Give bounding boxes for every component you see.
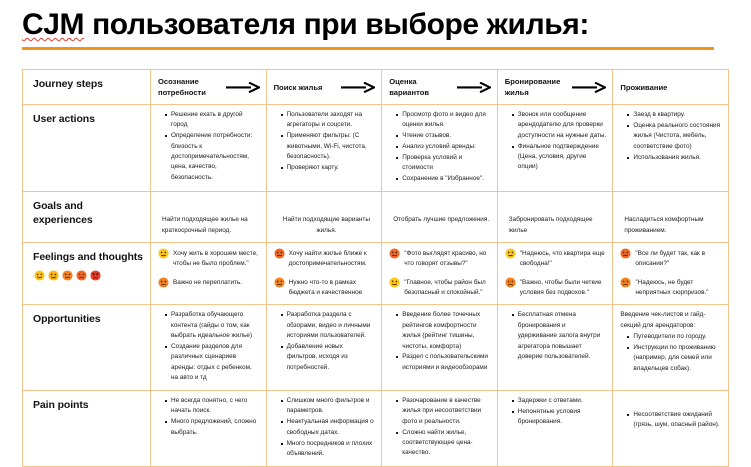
- list-item: Добавление новых фильтров, исходя из пот…: [282, 342, 376, 373]
- list-item: Проверяют карту.: [282, 163, 376, 173]
- quote-row: "Надеюсь, не будет неприятных сюрпризов.…: [620, 277, 722, 299]
- table-row-opportunities: Opportunities Разработка обучающего конт…: [23, 305, 729, 391]
- quote-text: Важно не переплатить.: [173, 277, 242, 288]
- goal-text: Найти подходящие варианты жилья.: [274, 197, 376, 236]
- quote-text: Хочу найти жилье ближе к достопримечател…: [289, 248, 376, 270]
- quote-list: Хочу жить в хорошем месте, чтобы не было…: [158, 248, 260, 288]
- bullet-list: Путеводители по городу. Инструкции по пр…: [620, 332, 722, 374]
- list-item: Применяют фильтры: (С животными, Wi-Fi, …: [282, 131, 376, 162]
- cell-feelings-1: Хочу жить в хорошем месте, чтобы не было…: [151, 242, 267, 305]
- arrow-right-icon: [572, 82, 606, 93]
- table-row-feelings: Feelings and thoughts Хочу жить в хороше…: [23, 242, 729, 305]
- bullet-list: Решение ехать в другой город Определение…: [158, 110, 260, 183]
- quote-list: "Все ли будет так, как в описании?" "Над…: [620, 248, 722, 299]
- list-item: Разочарование в качестве жилья при несоо…: [397, 396, 491, 427]
- title-underline-rule: [22, 47, 714, 50]
- cell-step-2: Поиск жилья: [266, 70, 382, 105]
- list-item: Введение более точечных рейтингов комфор…: [397, 310, 491, 352]
- quote-row: Нужно что-то в рамках бюджета и качестве…: [274, 277, 376, 299]
- arrow-right-icon: [341, 82, 375, 93]
- rowhead-label: Feelings and thoughts: [33, 250, 144, 264]
- bullet-list: Не всегда понятно, с чего начать поиск. …: [158, 396, 260, 438]
- bullet-list: Разработка обучающего контента (гайды о …: [158, 310, 260, 383]
- cell-pain-points-4: Задержки с ответами. Непонятные условия …: [497, 391, 613, 467]
- bullet-list: Разочарование в качестве жилья при несоо…: [389, 396, 491, 459]
- emoji-neutral-icon: [274, 277, 285, 288]
- table-row-goals: Goals and experiences Найти подходящее ж…: [23, 192, 729, 243]
- goal-text: Насладиться комфортным проживанием.: [620, 197, 722, 236]
- cell-pain-points-2: Слишком много фильтров и параметров. Неа…: [266, 391, 382, 467]
- arrow-right-icon: [457, 82, 491, 93]
- list-item: Финальное подтверждение (Цена, условия, …: [513, 142, 607, 173]
- title-rest: пользователя при выборе жилья:: [84, 8, 589, 41]
- step-label: Поиск жилья: [274, 82, 323, 93]
- rowhead-label: User actions: [33, 112, 144, 126]
- cell-opportunities-5: Введение чек-листов и гайд-секций для ар…: [613, 305, 729, 391]
- list-item: Инструкции по проживанию (например, для …: [628, 343, 722, 374]
- emoji-neutral-icon: [620, 248, 631, 259]
- bullet-list: Бесплатная отмена бронирования и удержив…: [505, 310, 607, 362]
- quote-text: Хочу жить в хорошем месте, чтобы не было…: [173, 248, 260, 270]
- cell-pain-points-3: Разочарование в качестве жилья при несоо…: [382, 391, 498, 467]
- bullet-list: Задержки с ответами. Непонятные условия …: [505, 396, 607, 428]
- quote-row: "Фото выглядят красиво, но что говорят о…: [389, 248, 491, 270]
- rowhead-opportunities: Opportunities: [23, 305, 151, 391]
- title-flagged-word: CJM: [22, 8, 84, 41]
- cell-feelings-2: Хочу найти жилье ближе к достопримечател…: [266, 242, 382, 305]
- cell-goals-2: Найти подходящие варианты жилья.: [266, 192, 382, 243]
- emoji-sad-icon: [505, 277, 516, 288]
- rowhead-goals: Goals and experiences: [23, 192, 151, 243]
- quote-text: "Фото выглядят красиво, но что говорят о…: [404, 248, 491, 270]
- quote-text: "Все ли будет так, как в описании?": [635, 248, 722, 270]
- emoji-slight-smile-icon: [505, 248, 516, 259]
- list-item: Решение ехать в другой город: [166, 110, 260, 131]
- rowhead-label: Pain points: [33, 398, 144, 412]
- cell-opportunities-1: Разработка обучающего контента (гайды о …: [151, 305, 267, 391]
- list-item: Пользователи заходят на агрегаторы и соц…: [282, 110, 376, 131]
- goal-text: Отобрать лучшие предложения.: [389, 197, 491, 225]
- list-item: Путеводители по городу.: [628, 332, 722, 342]
- emoji-sad-icon: [76, 270, 87, 281]
- list-item: Неактуальная информация о свободных дата…: [282, 417, 376, 438]
- emoji-slight-smile-icon: [389, 277, 400, 288]
- cell-user-actions-1: Решение ехать в другой город Определение…: [151, 105, 267, 192]
- list-item: Много предложений, сложно выбрать.: [166, 417, 260, 438]
- title-block: CJM пользователя при выборе жилья:: [22, 8, 722, 50]
- cell-feelings-5: "Все ли будет так, как в описании?" "Над…: [613, 242, 729, 305]
- list-item: Проверка условий и стоимости: [397, 153, 491, 174]
- emoji-slight-smile-icon: [158, 248, 169, 259]
- list-item: Разработка обучающего контента (гайды о …: [166, 310, 260, 341]
- opportunity-lead: Введение чек-листов и гайд-секций для ар…: [620, 310, 722, 331]
- list-item: Не всегда понятно, с чего начать поиск.: [166, 396, 260, 417]
- step-label: Оценка вариантов: [389, 76, 453, 98]
- quote-row: "Важно, чтобы были четкие условия без по…: [505, 277, 607, 299]
- list-item: Несоответствие ожиданий (грязь, шум, опа…: [628, 410, 722, 431]
- quote-row: "Все ли будет так, как в описании?": [620, 248, 722, 270]
- bullet-list: Заезд в квартиру. Оценка реального состо…: [620, 110, 722, 163]
- cell-user-actions-2: Пользователи заходят на агрегаторы и соц…: [266, 105, 382, 192]
- quote-text: "Главное, чтобы район был безопасный и с…: [404, 277, 491, 299]
- list-item: Анализ условий аренды:: [397, 142, 491, 152]
- cell-step-4: Бронирование жилья: [497, 70, 613, 105]
- bullet-list: Разработка раздела с обзорами, видео и л…: [274, 310, 376, 373]
- list-item: Определение потребности: близость к дост…: [166, 131, 260, 183]
- step-label: Осознание потребности: [158, 76, 222, 98]
- cell-opportunities-3: Введение более точечных рейтингов комфор…: [382, 305, 498, 391]
- table-row-user-actions: User actions Решение ехать в другой горо…: [23, 105, 729, 192]
- cell-feelings-4: "Надеюсь, что квартира еще свободна!" "В…: [497, 242, 613, 305]
- table-row-pain-points: Pain points Не всегда понятно, с чего на…: [23, 391, 729, 467]
- quote-list: "Фото выглядят красиво, но что говорят о…: [389, 248, 491, 299]
- cjm-table: Journey steps Осознание потребности Поис…: [22, 69, 729, 467]
- cell-opportunities-4: Бесплатная отмена бронирования и удержив…: [497, 305, 613, 391]
- rowhead-label: Goals and experiences: [33, 199, 144, 227]
- emoji-neutral-icon: [274, 248, 285, 259]
- quote-row: Хочу жить в хорошем месте, чтобы не было…: [158, 248, 260, 270]
- list-item: Задержки с ответами.: [513, 396, 607, 406]
- emoji-angry-icon: [90, 270, 101, 281]
- bullet-list: Несоответствие ожиданий (грязь, шум, опа…: [620, 396, 722, 431]
- cell-user-actions-5: Заезд в квартиру. Оценка реального состо…: [613, 105, 729, 192]
- emoji-sad-icon: [158, 277, 169, 288]
- cell-feelings-3: "Фото выглядят красиво, но что говорят о…: [382, 242, 498, 305]
- quote-text: "Важно, чтобы были четкие условия без по…: [520, 277, 607, 299]
- rowhead-journey-steps: Journey steps: [23, 70, 151, 105]
- cjm-slide: CJM пользователя при выборе жилья: Journ…: [0, 0, 751, 438]
- goal-text: Забронировать подходящее жилье: [505, 197, 607, 236]
- list-item: Разработка раздела с обзорами, видео и л…: [282, 310, 376, 341]
- list-item: Просмотр фото и видео для оценки жилья.: [397, 110, 491, 131]
- rowhead-label: Opportunities: [33, 312, 144, 326]
- cell-goals-5: Насладиться комфортным проживанием.: [613, 192, 729, 243]
- list-item: Непонятные условия бронирования.: [513, 407, 607, 428]
- goal-text: Найти подходящее жилье на краткосрочный …: [158, 197, 260, 236]
- emoji-sad-icon: [620, 277, 631, 288]
- step-label: Бронирование жилья: [505, 76, 569, 98]
- list-item: Чтение отзывов.: [397, 131, 491, 141]
- list-item: Использования жилья.: [628, 153, 722, 163]
- quote-text: Нужно что-то в рамках бюджета и качестве…: [289, 277, 376, 299]
- page-title: CJM пользователя при выборе жилья:: [22, 8, 722, 43]
- rowhead-label: Journey steps: [33, 77, 144, 91]
- list-item: Сохранение в "Избранное".: [397, 174, 491, 184]
- list-item: Создание разделов для различных сценарие…: [166, 342, 260, 384]
- cell-user-actions-4: Звонок или сообщение арендодателю для пр…: [497, 105, 613, 192]
- emoji-neutral-icon: [389, 248, 400, 259]
- cell-step-1: Осознание потребности: [151, 70, 267, 105]
- emoji-neutral-icon: [62, 270, 73, 281]
- quote-text: "Надеюсь, что квартира еще свободна!": [520, 248, 607, 270]
- cell-pain-points-5: Несоответствие ожиданий (грязь, шум, опа…: [613, 391, 729, 467]
- quote-row: "Надеюсь, что квартира еще свободна!": [505, 248, 607, 270]
- quote-list: "Надеюсь, что квартира еще свободна!" "В…: [505, 248, 607, 299]
- list-item: Звонок или сообщение арендодателю для пр…: [513, 110, 607, 141]
- table-row-journey-steps: Journey steps Осознание потребности Поис…: [23, 70, 729, 105]
- quote-text: "Надеюсь, не будет неприятных сюрпризов.…: [635, 277, 722, 299]
- cell-goals-3: Отобрать лучшие предложения.: [382, 192, 498, 243]
- step-label: Проживание: [620, 82, 667, 93]
- quote-row: Хочу найти жилье ближе к достопримечател…: [274, 248, 376, 270]
- emoji-happy-icon: [34, 270, 45, 281]
- cell-pain-points-1: Не всегда понятно, с чего начать поиск. …: [151, 391, 267, 467]
- arrow-right-icon: [226, 82, 260, 93]
- cell-step-5: Проживание: [613, 70, 729, 105]
- quote-row: "Главное, чтобы район был безопасный и с…: [389, 277, 491, 299]
- cell-step-3: Оценка вариантов: [382, 70, 498, 105]
- quote-row: Важно не переплатить.: [158, 277, 260, 288]
- bullet-list: Введение более точечных рейтингов комфор…: [389, 310, 491, 373]
- bullet-list: Слишком много фильтров и параметров. Неа…: [274, 396, 376, 459]
- rowhead-pain-points: Pain points: [23, 391, 151, 467]
- emoji-scale: [33, 270, 144, 281]
- cell-opportunities-2: Разработка раздела с обзорами, видео и л…: [266, 305, 382, 391]
- list-item: Сложно найти жилье, соответствующее цена…: [397, 428, 491, 459]
- bullet-list: Звонок или сообщение арендодателю для пр…: [505, 110, 607, 173]
- list-item: Заезд в квартиру.: [628, 110, 722, 120]
- list-item: Оценка реального состояния жилья (Чистот…: [628, 121, 722, 152]
- bullet-list: Просмотр фото и видео для оценки жилья. …: [389, 110, 491, 185]
- rowhead-user-actions: User actions: [23, 105, 151, 192]
- cell-user-actions-3: Просмотр фото и видео для оценки жилья. …: [382, 105, 498, 192]
- cell-goals-4: Забронировать подходящее жилье: [497, 192, 613, 243]
- list-item: Много посредников и плохих объявлений.: [282, 439, 376, 460]
- list-item: Бесплатная отмена бронирования и удержив…: [513, 310, 607, 362]
- bullet-list: Пользователи заходят на агрегаторы и соц…: [274, 110, 376, 173]
- cell-goals-1: Найти подходящее жилье на краткосрочный …: [151, 192, 267, 243]
- rowhead-feelings: Feelings and thoughts: [23, 242, 151, 305]
- list-item: Слишком много фильтров и параметров.: [282, 396, 376, 417]
- quote-list: Хочу найти жилье ближе к достопримечател…: [274, 248, 376, 299]
- emoji-slight-smile-icon: [48, 270, 59, 281]
- list-item: Раздел с пользовательскими историями и в…: [397, 352, 491, 373]
